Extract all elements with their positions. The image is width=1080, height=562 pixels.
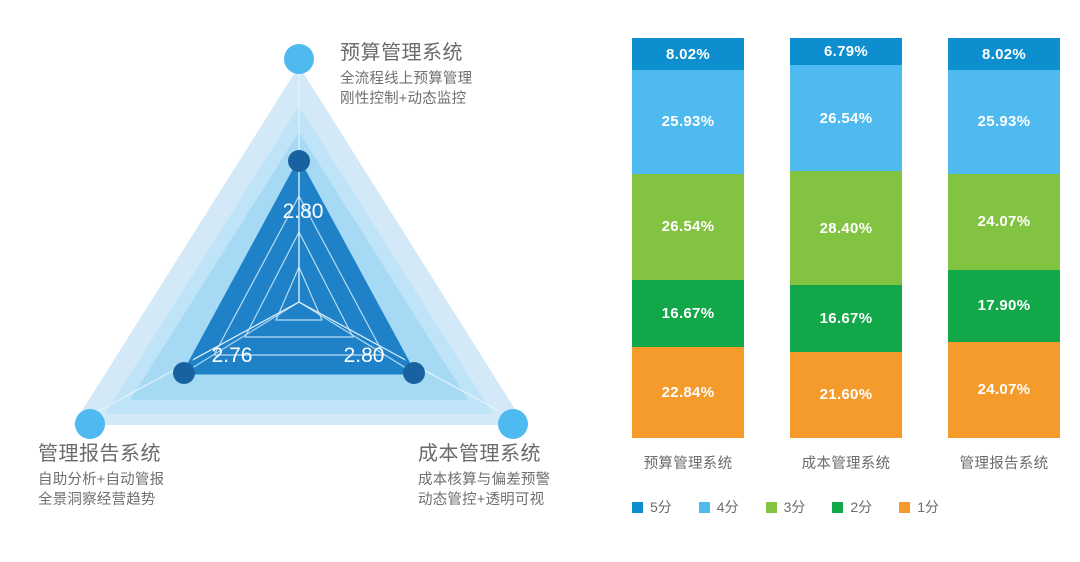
bar-column[interactable]: 8.02%25.93%24.07%17.90%24.07%	[948, 38, 1060, 438]
legend-label: 4分	[717, 497, 739, 517]
legend-item[interactable]: 4分	[699, 497, 739, 517]
bar-segment[interactable]: 8.02%	[948, 38, 1060, 70]
legend-swatch-icon	[699, 502, 710, 513]
bar-segment[interactable]: 17.90%	[948, 270, 1060, 342]
bar-column[interactable]: 6.79%26.54%28.40%16.67%21.60%	[790, 38, 902, 438]
bar-segment[interactable]: 26.54%	[790, 65, 902, 171]
legend-label: 1分	[917, 497, 939, 517]
legend-swatch-icon	[766, 502, 777, 513]
radar-axis-subtitle-1: 成本核算与偏差预警	[418, 471, 550, 491]
radar-axis-label-budget: 预算管理系统 全流程线上预算管理 刚性控制+动态监控	[340, 40, 472, 109]
bar-segment[interactable]: 22.84%	[632, 347, 744, 438]
radar-point-bottom-right	[403, 362, 425, 384]
radar-chart-panel: 2.80 2.76 2.80 预算管理系统 全流程线上预算管理 刚性控制+动态监…	[0, 0, 610, 562]
category-label: 成本管理系统	[790, 452, 902, 473]
bar-segment[interactable]: 25.93%	[632, 70, 744, 174]
bar-segment[interactable]: 24.07%	[948, 342, 1060, 438]
legend-swatch-icon	[632, 502, 643, 513]
bar-segment[interactable]: 24.07%	[948, 174, 1060, 270]
chart-legend: 5分4分3分2分1分	[632, 497, 1060, 517]
radar-axis-title: 预算管理系统	[340, 40, 472, 67]
radar-point-bottom-left	[173, 362, 195, 384]
legend-swatch-icon	[832, 502, 843, 513]
legend-label: 3分	[784, 497, 806, 517]
category-label: 管理报告系统	[948, 452, 1060, 473]
legend-item[interactable]: 5分	[632, 497, 672, 517]
radar-axis-subtitle-1: 全流程线上预算管理	[340, 70, 472, 90]
legend-label: 2分	[850, 497, 872, 517]
radar-point-top	[288, 150, 310, 172]
radar-axis-subtitle-1: 自助分析+自动管报	[38, 471, 164, 491]
radar-axis-label-cost: 成本管理系统 成本核算与偏差预警 动态管控+透明可视	[418, 441, 550, 510]
radar-axis-label-report: 管理报告系统 自助分析+自动管报 全景洞察经营趋势	[38, 441, 164, 510]
legend-item[interactable]: 2分	[832, 497, 872, 517]
bar-segment[interactable]: 26.54%	[632, 174, 744, 280]
bar-segment[interactable]: 16.67%	[632, 280, 744, 347]
legend-swatch-icon	[899, 502, 910, 513]
radar-axis-subtitle-2: 全景洞察经营趋势	[38, 491, 164, 511]
bar-segment[interactable]: 28.40%	[790, 171, 902, 285]
bar-segment[interactable]: 25.93%	[948, 70, 1060, 174]
radar-value-bottom-left: 2.76	[212, 344, 253, 367]
radar-value-bottom-right: 2.80	[344, 344, 385, 367]
radar-vertex-dot-top	[284, 44, 314, 74]
legend-item[interactable]: 1分	[899, 497, 939, 517]
stacked-bar-chart-panel: 8.02%25.93%26.54%16.67%22.84%6.79%26.54%…	[610, 0, 1080, 562]
category-label: 预算管理系统	[632, 452, 744, 473]
legend-label: 5分	[650, 497, 672, 517]
bar-segment[interactable]: 16.67%	[790, 285, 902, 352]
radar-vertex-dot-bottom-right	[498, 409, 528, 439]
category-axis-labels: 预算管理系统成本管理系统管理报告系统	[632, 452, 1060, 473]
radar-axis-subtitle-2: 动态管控+透明可视	[418, 491, 550, 511]
radar-axis-subtitle-2: 刚性控制+动态监控	[340, 90, 472, 110]
radar-axis-title: 成本管理系统	[418, 441, 550, 468]
bar-segment[interactable]: 8.02%	[632, 38, 744, 70]
bar-segment[interactable]: 21.60%	[790, 352, 902, 438]
bar-column[interactable]: 8.02%25.93%26.54%16.67%22.84%	[632, 38, 744, 438]
bar-columns: 8.02%25.93%26.54%16.67%22.84%6.79%26.54%…	[632, 38, 1060, 438]
bar-segment[interactable]: 6.79%	[790, 38, 902, 65]
radar-vertex-dot-bottom-left	[75, 409, 105, 439]
radar-axis-title: 管理报告系统	[38, 441, 164, 468]
radar-value-top: 2.80	[283, 200, 324, 223]
legend-item[interactable]: 3分	[766, 497, 806, 517]
